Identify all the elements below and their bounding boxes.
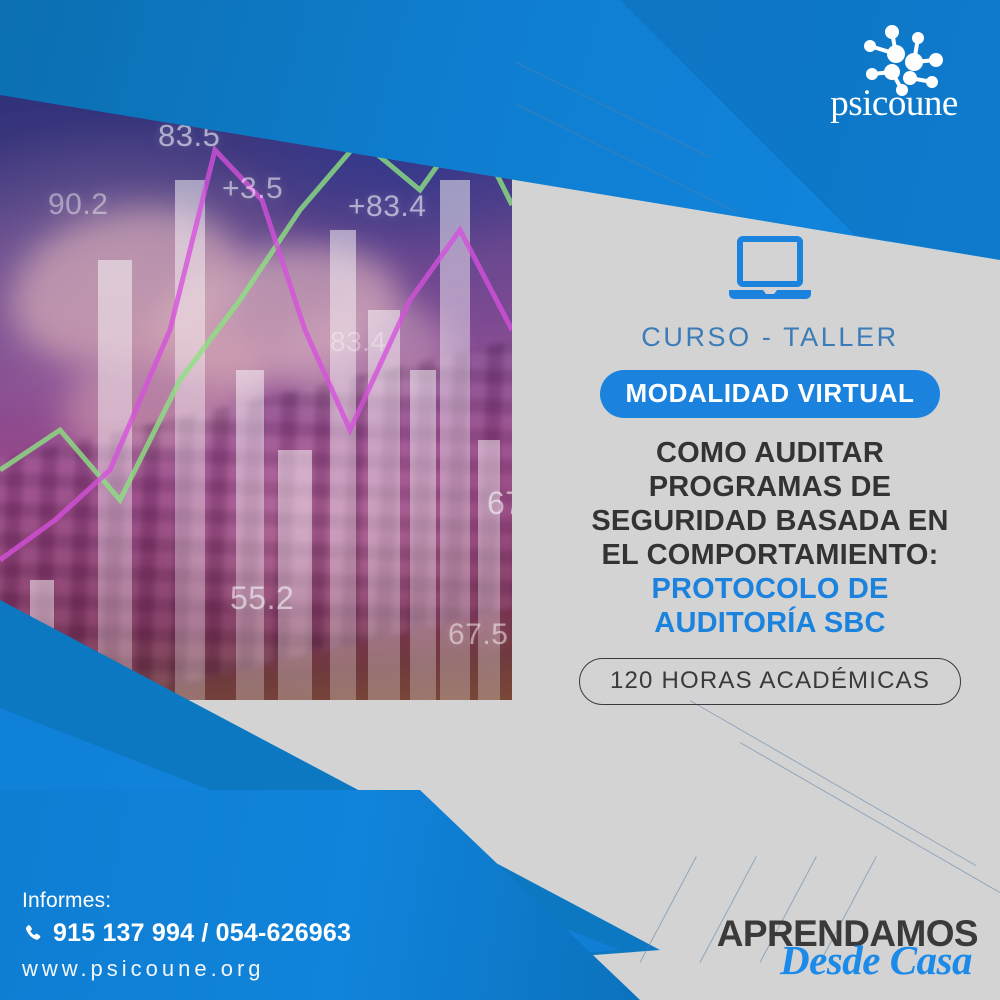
title-line: SEGURIDAD BASADA EN <box>560 505 980 539</box>
overlay-number: +83.4 <box>348 190 426 224</box>
course-kicker: CURSO - TALLER <box>560 322 980 353</box>
title-highlight-line: AUDITORÍA SBC <box>560 607 980 641</box>
title-line: PROGRAMAS DE <box>560 471 980 505</box>
contact-website[interactable]: www.psicoune.org <box>22 956 351 982</box>
overlay-bar <box>278 450 312 700</box>
phone-icon <box>22 923 44 945</box>
overlay-bar <box>330 230 356 700</box>
contact-block: Informes: 915 137 994 / 054-626963 www.p… <box>22 889 351 982</box>
logo-wordmark: psicoune <box>814 85 974 122</box>
modality-badge: MODALIDAD VIRTUAL <box>600 370 941 418</box>
overlay-number: 83.4 <box>330 326 387 358</box>
overlay-bar <box>175 180 205 700</box>
hours-badge: 120 HORAS ACADÉMICAS <box>579 658 961 705</box>
flyer-canvas: 90.283.590.2+3.5+83.483.455.26767.5 <box>0 0 1000 1000</box>
course-info-block: CURSO - TALLER MODALIDAD VIRTUAL COMO AU… <box>560 236 980 705</box>
tagline-block: APRENDAMOS Desde Casa <box>717 915 978 978</box>
overlay-number: 55.2 <box>230 580 294 617</box>
overlay-bar <box>368 310 400 700</box>
overlay-bar <box>236 370 264 700</box>
title-line: COMO AUDITAR <box>560 437 980 471</box>
course-title: COMO AUDITAR PROGRAMAS DE SEGURIDAD BASA… <box>560 437 980 641</box>
overlay-bar <box>98 260 132 700</box>
contact-label: Informes: <box>22 889 351 913</box>
overlay-number: 90.2 <box>48 188 108 222</box>
overlay-bar <box>478 440 500 700</box>
overlay-number: +3.5 <box>222 172 283 206</box>
title-line: EL COMPORTAMIENTO: <box>560 539 980 573</box>
contact-phone-row[interactable]: 915 137 994 / 054-626963 <box>22 919 351 948</box>
overlay-number: 67.5 <box>448 618 508 652</box>
contact-phone-numbers: 915 137 994 / 054-626963 <box>53 919 351 948</box>
title-highlight-line: PROTOCOLO DE <box>560 573 980 607</box>
overlay-bar <box>410 370 436 700</box>
laptop-icon <box>727 236 813 302</box>
brand-logo[interactable]: psicoune <box>814 24 974 122</box>
overlay-number: 67 <box>487 485 512 522</box>
